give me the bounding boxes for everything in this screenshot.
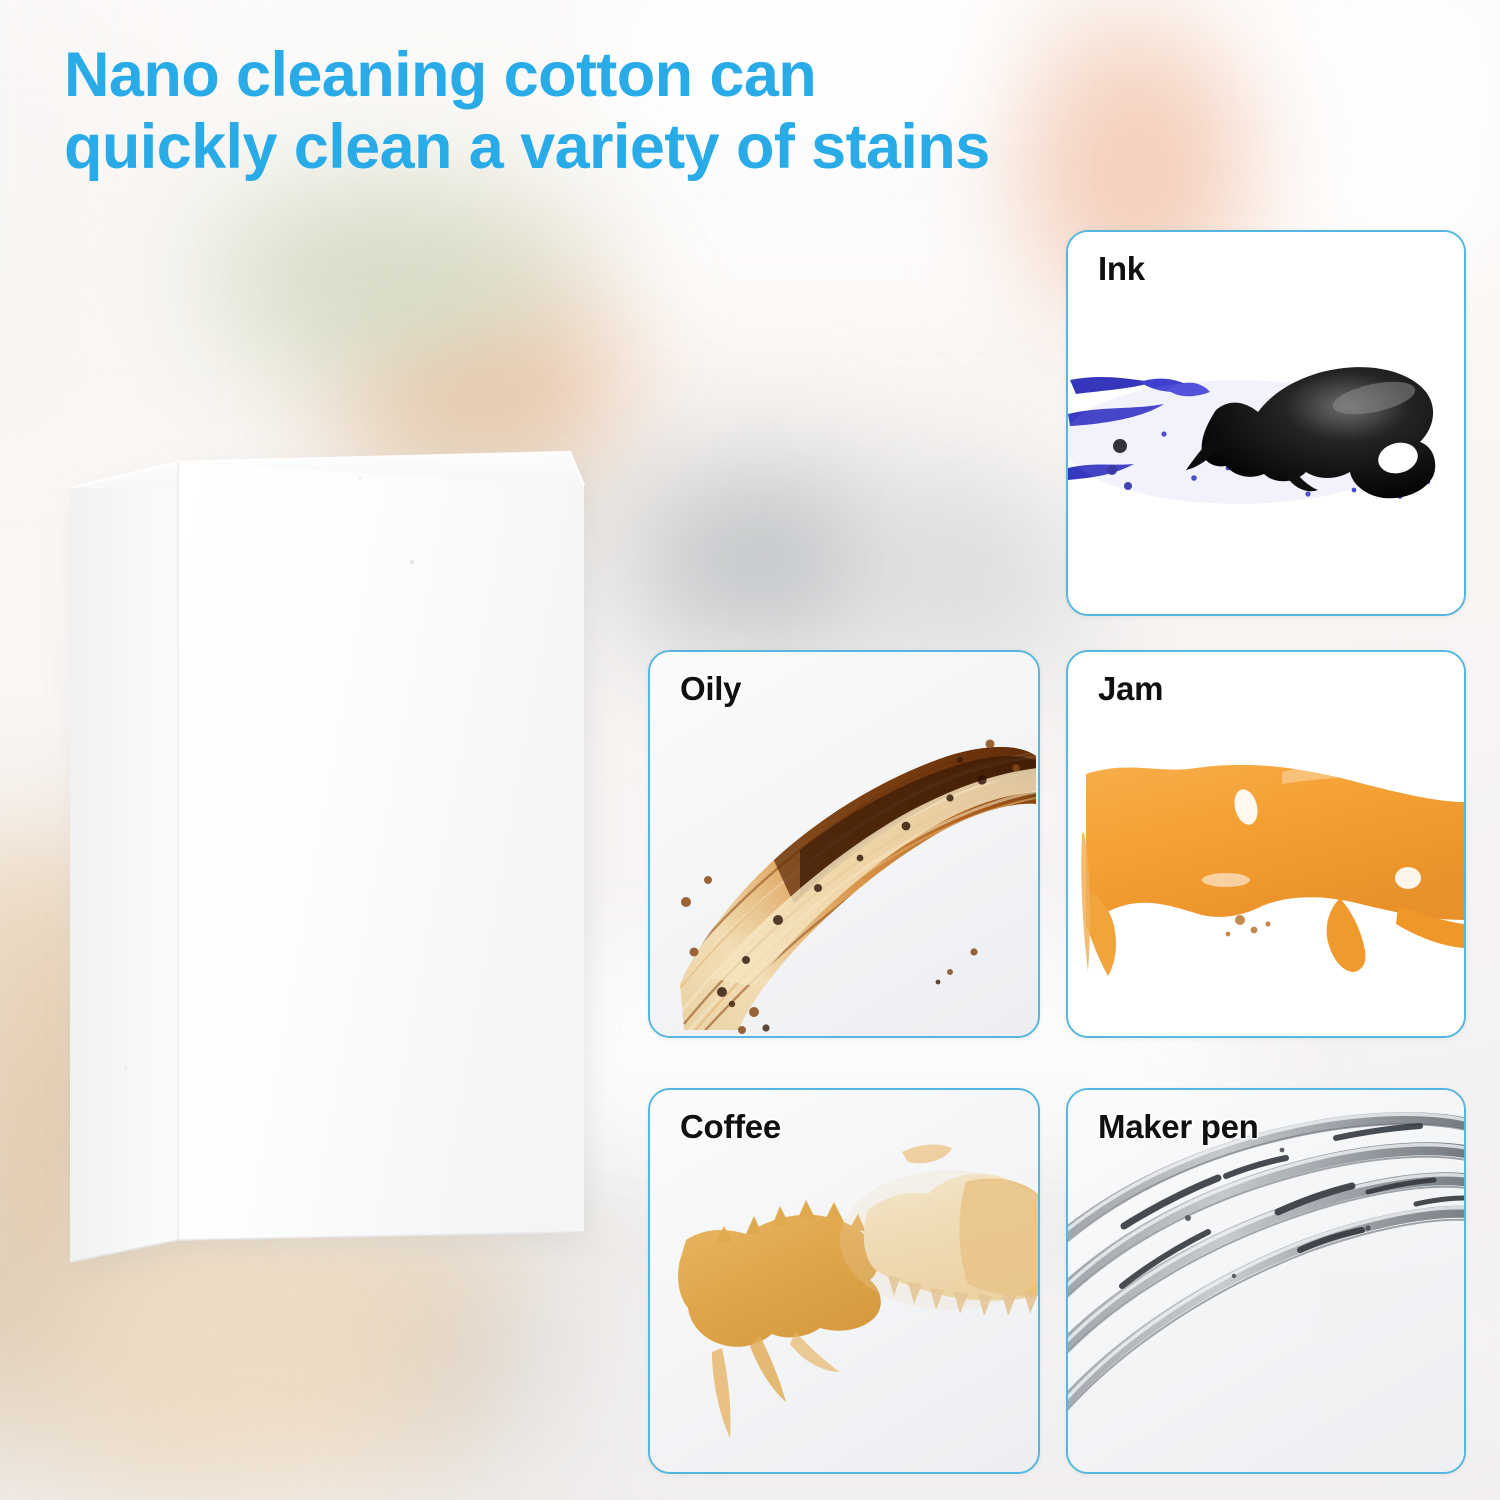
stain-card-label-ink: Ink (1098, 250, 1145, 288)
stain-card-oily[interactable]: Oily (648, 650, 1040, 1038)
stain-art-coffee (650, 1090, 1038, 1472)
sponge-front-face (178, 462, 584, 1240)
marker-fade-overlay (1318, 1270, 1464, 1472)
jam-band (1086, 765, 1464, 928)
sponge-speckle (124, 1066, 128, 1070)
stain-art-ink (1068, 232, 1464, 614)
background-window-frame (600, 190, 1040, 204)
sponge-left-face (70, 462, 178, 1262)
background-mullion-left (0, 0, 16, 400)
stain-card-label-coffee: Coffee (680, 1108, 781, 1146)
product-marketing-image: Nano cleaning cotton can quickly clean a… (0, 0, 1500, 1500)
stain-art-maker-pen (1068, 1090, 1464, 1472)
coffee-drip (750, 1336, 786, 1402)
stain-card-label-jam: Jam (1098, 670, 1163, 708)
sponge-block-product (60, 440, 620, 1280)
jam-highlight-2 (1395, 867, 1421, 889)
coffee-drip-3 (790, 1332, 840, 1372)
background-foliage (216, 168, 616, 388)
coffee-drip-2 (712, 1348, 731, 1438)
stain-art-oily (650, 652, 1038, 1036)
page-title: Nano cleaning cotton can quickly clean a… (64, 40, 1184, 184)
jam-highlight-3 (1202, 873, 1250, 887)
stain-art-jam (1068, 652, 1464, 1036)
sponge-speckle (358, 476, 361, 479)
stain-card-maker-pen[interactable]: Maker pen (1066, 1088, 1466, 1474)
jam-drip-mid (1327, 898, 1366, 972)
stain-card-label-maker-pen: Maker pen (1098, 1108, 1259, 1146)
sponge-speckle (410, 560, 414, 564)
background-shadow-streak (420, 1300, 640, 1500)
stain-card-label-oily: Oily (680, 670, 741, 708)
stain-card-jam[interactable]: Jam (1066, 650, 1466, 1038)
stain-card-ink[interactable]: Ink (1066, 230, 1466, 616)
background-grey-object-large (622, 452, 922, 652)
coffee-splash (902, 1145, 952, 1164)
jam-seeds (1226, 915, 1271, 936)
stain-card-coffee[interactable]: Coffee (648, 1088, 1040, 1474)
